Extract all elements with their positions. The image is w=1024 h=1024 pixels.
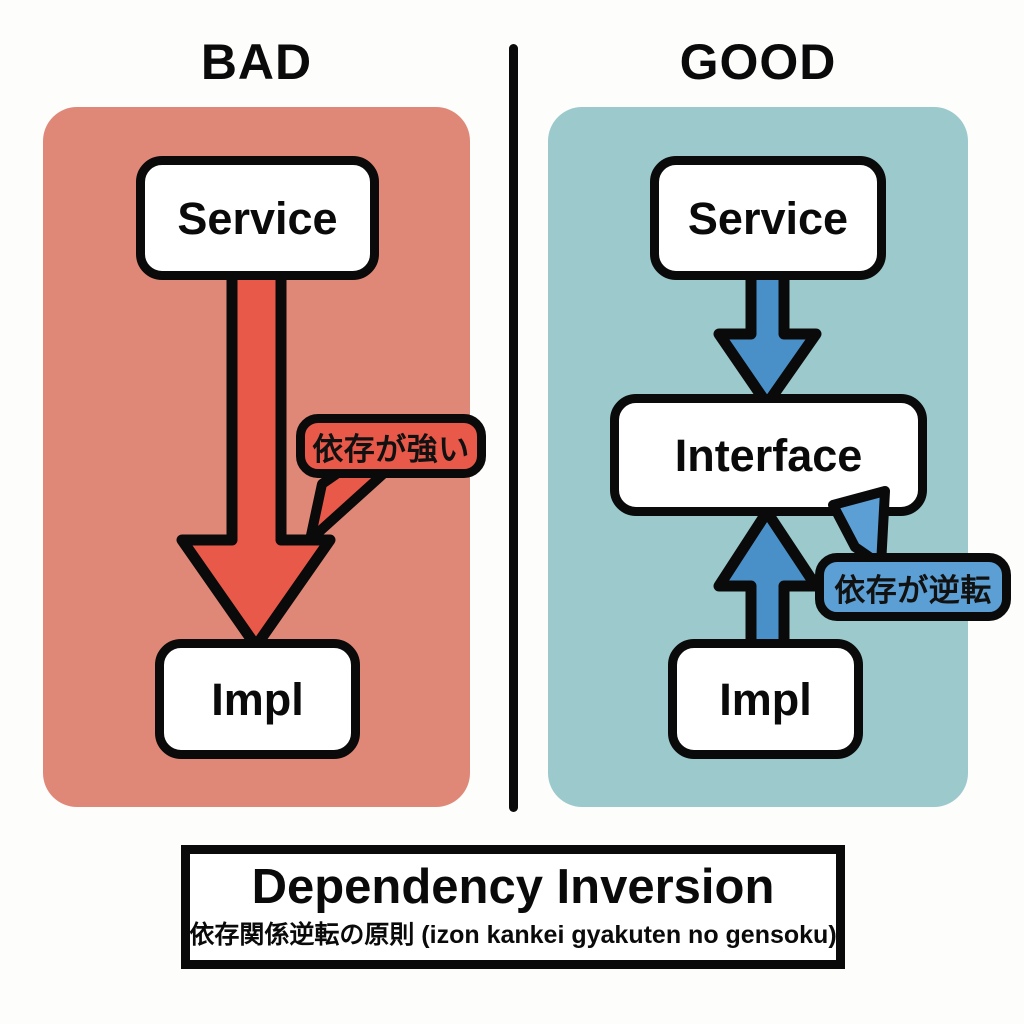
- node-good-impl[interactable]: Impl: [668, 639, 863, 759]
- column-title-good: GOOD: [548, 33, 968, 91]
- caption-box: Dependency Inversion 依存関係逆転の原則 (izon kan…: [181, 845, 845, 969]
- diagram-canvas: BAD GOOD Service Impl Service Interface: [0, 0, 1024, 1024]
- bubble-bad-body: 依存が強い: [296, 414, 486, 478]
- bubble-good-text: 依存が逆転: [834, 565, 992, 610]
- node-label: Impl: [211, 677, 304, 722]
- bubble-bad: 依存が強い: [296, 414, 496, 546]
- node-label: Service: [177, 196, 337, 241]
- node-label: Impl: [719, 677, 812, 722]
- node-bad-impl[interactable]: Impl: [155, 639, 360, 759]
- caption-subtitle: 依存関係逆転の原則 (izon kankei gyakuten no genso…: [189, 915, 836, 951]
- column-divider: [509, 44, 518, 812]
- bubble-bad-text: 依存が強い: [312, 424, 470, 469]
- caption-title: Dependency Inversion: [252, 863, 775, 913]
- node-bad-service[interactable]: Service: [136, 156, 379, 280]
- node-label: Service: [688, 196, 848, 241]
- bubble-good-body: 依存が逆転: [815, 553, 1011, 621]
- bubble-good: 依存が逆転: [815, 497, 1020, 627]
- node-label: Interface: [675, 433, 863, 478]
- column-title-bad: BAD: [43, 33, 470, 91]
- node-good-service[interactable]: Service: [650, 156, 886, 280]
